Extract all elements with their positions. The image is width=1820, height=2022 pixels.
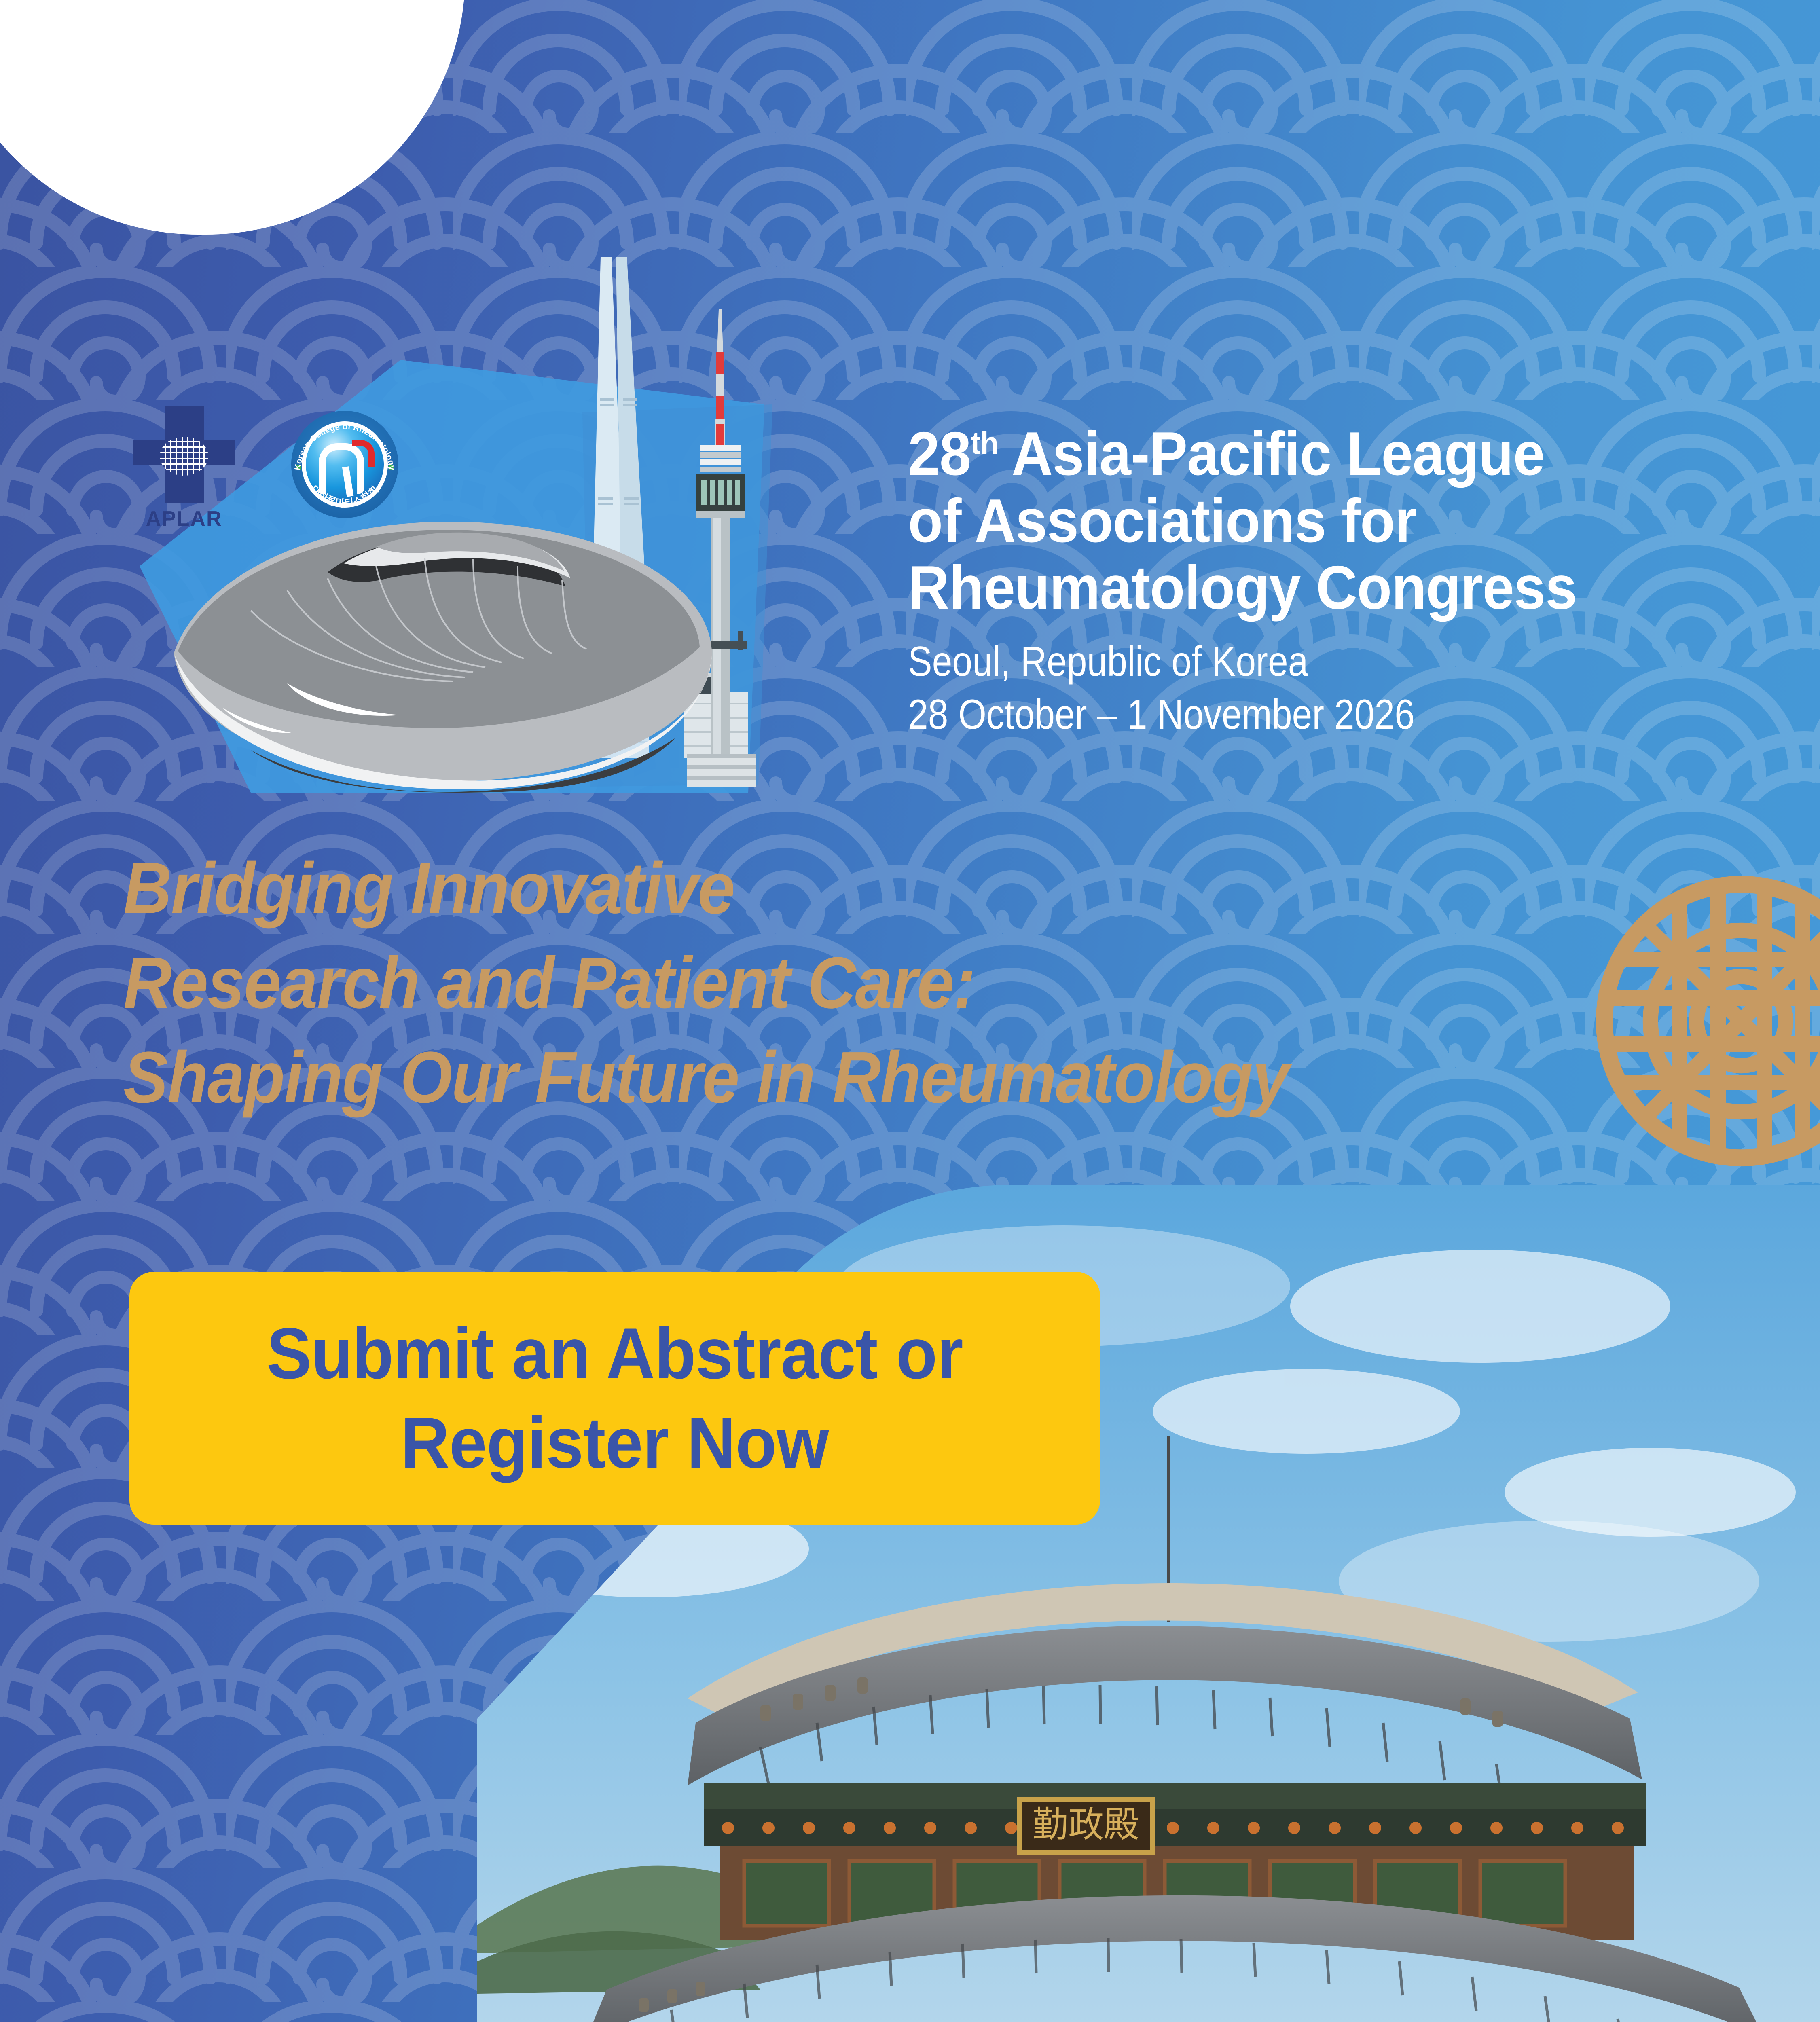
globe-icon <box>160 437 208 476</box>
congress-location: Seoul, Republic of Korea <box>908 638 1308 685</box>
headline-block: 28th Asia-Pacific League of Associations… <box>908 421 1757 741</box>
logo-row: APLAR Korean College of Rheumatology 대한류… <box>133 410 469 532</box>
congress-ordinal: 28 <box>908 419 971 488</box>
cta-label-line1: Submit an Abstract or <box>267 1313 963 1394</box>
congress-ordinal-suffix: th <box>971 425 998 461</box>
tagline-line3: Shaping Our Future in Rheumatology <box>123 1037 1289 1118</box>
congress-dates: 28 October – 1 November 2026 <box>908 691 1415 738</box>
kcr-logo: Korean College of Rheumatology 대한류마티스학회 <box>291 411 398 518</box>
tagline-line1: Bridging Innovative <box>123 848 734 929</box>
congress-title: 28th Asia-Pacific League of Associations… <box>908 421 1698 622</box>
aplar-logo: APLAR <box>133 406 235 532</box>
kcr-korean-text: 대한류마티스학회 <box>291 411 398 518</box>
congress-title-line2: of Associations for <box>908 486 1416 555</box>
korean-lattice-circle-icon-right <box>1587 867 1820 1175</box>
cta-label-line2: Register Now <box>401 1402 829 1483</box>
congress-meta: Seoul, Republic of Korea 28 October – 1 … <box>908 635 1638 741</box>
congress-poster: APLAR Korean College of Rheumatology 대한류… <box>0 0 1820 2022</box>
congress-title-line1: Asia-Pacific League <box>998 419 1545 488</box>
cta-label: Submit an Abstract or Register Now <box>267 1309 963 1487</box>
tagline-line2: Research and Patient Care: <box>123 942 975 1024</box>
svg-text:대한류마티스학회: 대한류마티스학회 <box>309 484 381 509</box>
congress-title-line3: Rheumatology Congress <box>908 553 1577 622</box>
congress-tagline: Bridging Innovative Research and Patient… <box>123 841 1500 1125</box>
palace-plaque-text: 勤政殿 <box>1033 1806 1139 1845</box>
submit-abstract-register-button[interactable]: Submit an Abstract or Register Now <box>129 1272 1100 1525</box>
aplar-wordmark: APLAR <box>133 507 235 531</box>
